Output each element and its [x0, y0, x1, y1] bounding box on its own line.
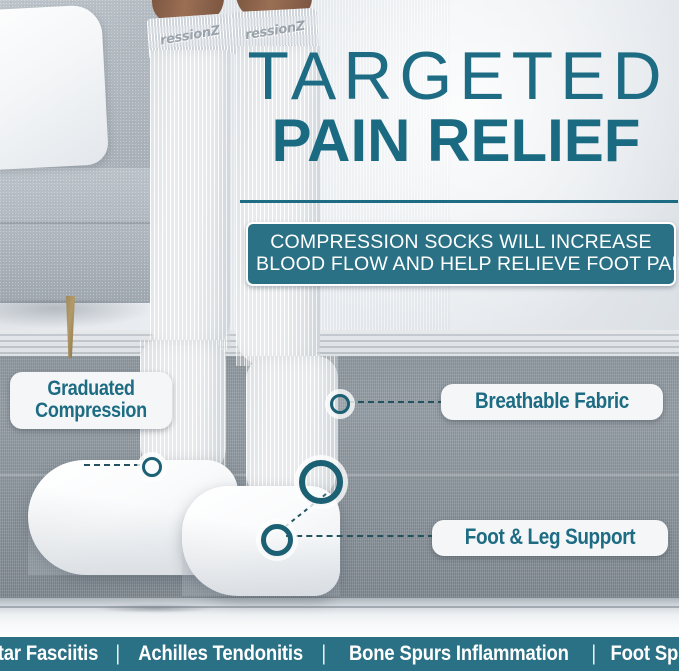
callout-graduated-line-1: Graduated	[33, 378, 148, 400]
subheadline-banner: COMPRESSION SOCKS WILL INCREASE BLOOD FL…	[246, 222, 676, 286]
conditions-bar: Plantar Fasciitis|Achilles Tendonitis|Bo…	[0, 637, 679, 671]
callout-breathable-label: Breathable Fabric	[469, 390, 636, 413]
white-throw-pillow	[0, 4, 109, 172]
condition-item: Achilles Tendonitis	[137, 642, 305, 666]
condition-separator: |	[586, 642, 600, 666]
callout-support-label: Foot & Leg Support	[461, 526, 640, 549]
marker-heel-support[interactable]	[261, 524, 293, 556]
condition-separator: |	[317, 642, 331, 666]
sock-left-rib-texture	[150, 50, 230, 350]
condition-item: Plantar Fasciitis	[0, 642, 100, 666]
marker-graduated-compression[interactable]	[142, 457, 162, 477]
callout-foot-leg-support[interactable]: Foot & Leg Support	[432, 520, 668, 556]
headline-line-2: PAIN RELIEF	[236, 111, 676, 171]
marker-breathable-fabric[interactable]	[330, 394, 350, 414]
callout-graduated-line-2: Compression	[33, 400, 148, 422]
marker-foot-leg-support[interactable]	[299, 460, 343, 504]
banner-line-1: COMPRESSION SOCKS WILL INCREASE	[256, 231, 666, 253]
banner-line-2: BLOOD FLOW AND HELP RELIEVE FOOT PAIN	[256, 253, 666, 275]
headline-divider-rule	[240, 200, 678, 203]
sock-left-leg-tube	[150, 50, 230, 350]
conditions-list: Plantar Fasciitis|Achilles Tendonitis|Bo…	[0, 642, 679, 666]
condition-item: Bone Spurs Inflammation	[347, 642, 570, 666]
headline-line-1: TARGETED	[240, 44, 676, 109]
sofa-shadow	[0, 300, 150, 328]
floor-reflection	[95, 604, 215, 613]
lower-floor	[0, 598, 679, 638]
connector-breathable	[348, 401, 444, 403]
connector-support	[286, 535, 434, 537]
callout-breathable-fabric[interactable]: Breathable Fabric	[441, 384, 663, 420]
connector-graduated	[84, 464, 140, 466]
condition-separator: |	[111, 642, 125, 666]
condition-item: Foot Sprains	[609, 642, 679, 666]
headline-block: TARGETED PAIN RELIEF	[236, 44, 676, 171]
callout-graduated-compression[interactable]: Graduated Compression	[10, 372, 172, 429]
product-marketing-image: ressionZ ressionZ	[0, 0, 679, 671]
